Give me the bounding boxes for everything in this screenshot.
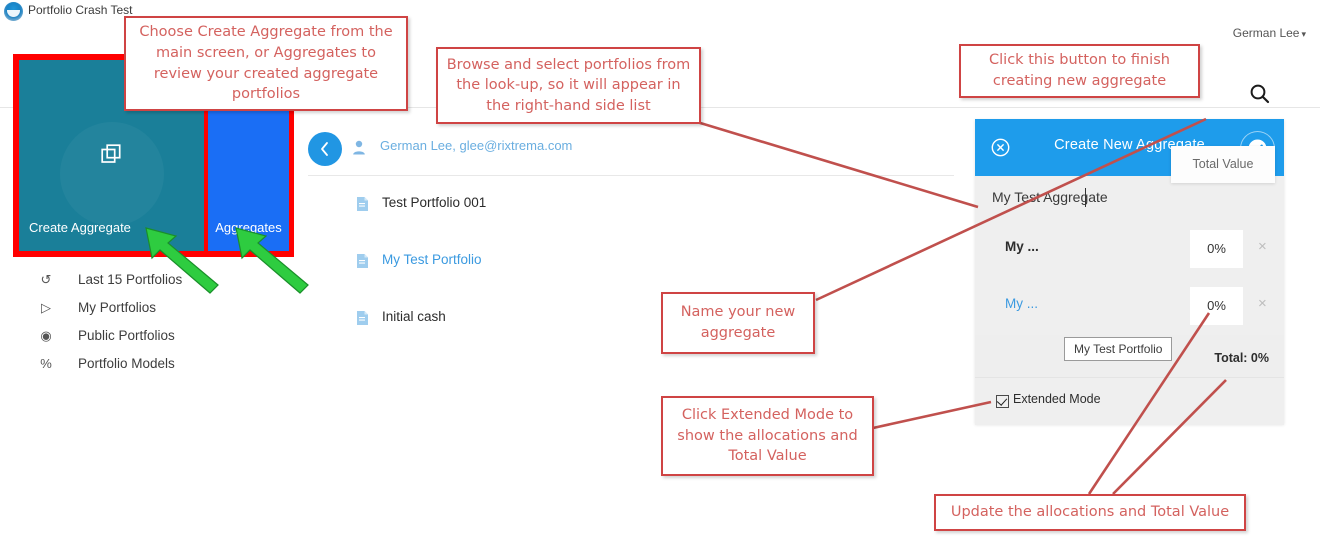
copy-icon (101, 144, 123, 166)
create-aggregate-panel: Create New Aggregate My Test Aggregate M… (975, 119, 1284, 424)
annotation-callout: Name your new aggregate (661, 292, 815, 354)
allocation-value: 0% (1190, 241, 1243, 256)
sidebar-item-portfolio-models[interactable]: % Portfolio Models (0, 350, 300, 378)
text-caret (1085, 188, 1086, 207)
allocation-value: 0% (1190, 298, 1243, 313)
user-menu-label: German Lee (1233, 26, 1300, 40)
sidebar-item-label: Public Portfolios (78, 322, 175, 350)
sidebar-item-my-portfolios[interactable]: ▷ My Portfolios (0, 294, 300, 322)
list-item-label: Test Portfolio 001 (382, 195, 486, 210)
aggregate-allocation-row[interactable]: My ... 0% × (975, 221, 1284, 278)
document-icon (356, 196, 369, 212)
user-menu[interactable]: German Lee▾ (1233, 26, 1306, 40)
annotation-callout: Click Extended Mode to show the allocati… (661, 396, 874, 476)
annotation-text: Click this button to finish creating new… (961, 50, 1198, 91)
eye-icon: ◉ (38, 322, 54, 350)
allocation-input[interactable]: 0% (1190, 287, 1243, 325)
collapse-left-button[interactable] (308, 132, 342, 166)
list-item[interactable]: Initial cash (352, 307, 952, 364)
annotation-text: Choose Create Aggregate from the main sc… (126, 22, 406, 104)
sidebar-item-public-portfolios[interactable]: ◉ Public Portfolios (0, 322, 300, 350)
sidebar-item-label: Portfolio Models (78, 350, 175, 378)
aggregate-row-name: My ... (1005, 296, 1038, 311)
list-item[interactable]: Test Portfolio 001 (352, 193, 952, 250)
annotation-callout: Choose Create Aggregate from the main sc… (124, 16, 408, 111)
aggregate-allocation-row[interactable]: My ... 0% × (975, 278, 1284, 335)
browser-tab-title[interactable]: Portfolio Crash Test (28, 3, 133, 17)
total-value-button-label: Total Value (1171, 157, 1275, 171)
annotation-callout: Browse and select portfolios from the lo… (436, 47, 701, 124)
document-icon (356, 310, 369, 326)
annotation-text: Name your new aggregate (663, 302, 813, 343)
extended-mode-checkbox[interactable] (996, 395, 1009, 408)
row-tooltip: My Test Portfolio (1064, 337, 1172, 361)
remove-row-icon[interactable]: × (1258, 238, 1267, 255)
aggregate-row-name: My ... (1005, 239, 1039, 254)
document-icon (356, 253, 369, 269)
allocation-input[interactable]: 0% (1190, 230, 1243, 268)
list-item-label: Initial cash (382, 309, 446, 324)
annotation-callout: Click this button to finish creating new… (959, 44, 1200, 98)
total-value-button[interactable]: Total Value (1171, 146, 1275, 183)
chevron-down-icon: ▾ (1301, 29, 1306, 39)
user-icon (352, 140, 366, 155)
search-icon[interactable] (1248, 82, 1272, 106)
tile-aggregates-label: Aggregates (208, 220, 289, 235)
sidebar-item-label: My Portfolios (78, 294, 156, 322)
percent-icon: % (38, 350, 54, 378)
aggregate-name-value: My Test Aggregate (992, 189, 1108, 205)
connector-line-extended (873, 402, 991, 428)
list-item-label: My Test Portfolio (382, 252, 482, 267)
list-item[interactable]: My Test Portfolio (352, 250, 952, 307)
extended-mode-row: Extended Mode (975, 377, 1284, 425)
annotation-callout: Update the allocations and Total Value (934, 494, 1246, 531)
tile-create-aggregate-label: Create Aggregate (29, 220, 131, 235)
extended-mode-label[interactable]: Extended Mode (1013, 392, 1101, 406)
tile-circle-decoration (60, 122, 164, 226)
aggregate-total-label: Total: 0% (1214, 351, 1269, 365)
sidebar-item-last-15-portfolios[interactable]: ↺ Last 15 Portfolios (0, 266, 300, 294)
folder-icon: ▷ (38, 294, 54, 322)
sidebar-item-label: Last 15 Portfolios (78, 266, 182, 294)
sidebar-nav: ↺ Last 15 Portfolios ▷ My Portfolios ◉ P… (0, 266, 300, 378)
portfolio-list: Test Portfolio 001 My Test Portfolio Ini… (352, 193, 952, 364)
lookup-owner-label: German Lee, glee@rixtrema.com (380, 138, 572, 153)
wave-logo-icon (4, 2, 23, 21)
annotation-text: Browse and select portfolios from the lo… (438, 55, 699, 117)
remove-row-icon[interactable]: × (1258, 295, 1267, 312)
history-icon: ↺ (38, 266, 54, 294)
annotation-text: Update the allocations and Total Value (943, 502, 1237, 523)
annotation-text: Click Extended Mode to show the allocati… (663, 405, 872, 467)
list-divider (308, 175, 954, 176)
